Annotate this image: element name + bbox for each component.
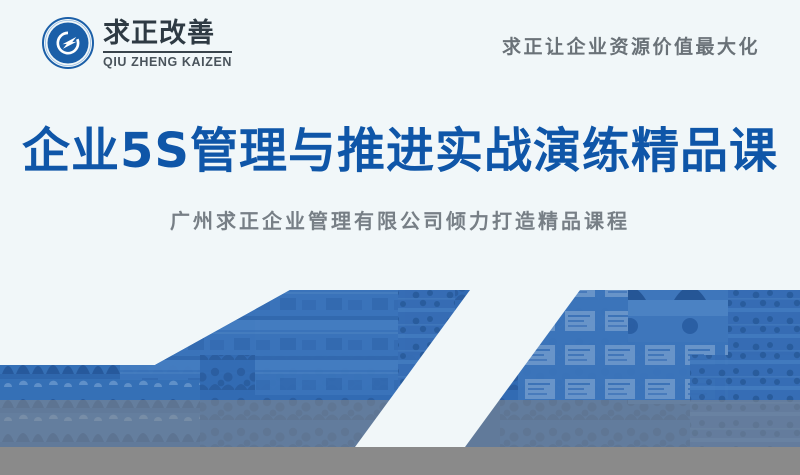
page-subtitle: 广州求正企业管理有限公司倾力打造精品课程 bbox=[0, 206, 800, 236]
poster-canvas: 求正改善 QIU ZHENG KAIZEN 求正让企业资源价值最大化 企业5S管… bbox=[0, 0, 800, 475]
title-block: 企业5S管理与推进实战演练精品课 广州求正企业管理有限公司倾力打造精品课程 bbox=[0, 120, 800, 236]
page-title: 企业5S管理与推进实战演练精品课 bbox=[0, 120, 800, 182]
brand-wordmark: 求正改善 QIU ZHENG KAIZEN bbox=[103, 18, 232, 69]
brand-name-en: QIU ZHENG KAIZEN bbox=[103, 55, 232, 69]
brand-divider-rule bbox=[103, 51, 232, 53]
brand-name-cn: 求正改善 bbox=[103, 19, 232, 49]
header: 求正改善 QIU ZHENG KAIZEN 求正让企业资源价值最大化 bbox=[0, 0, 800, 92]
header-tagline: 求正让企业资源价值最大化 bbox=[502, 32, 760, 59]
qiuzheng-circular-emblem bbox=[42, 17, 94, 69]
brand-lockup[interactable]: 求正改善 QIU ZHENG KAIZEN bbox=[42, 17, 232, 69]
